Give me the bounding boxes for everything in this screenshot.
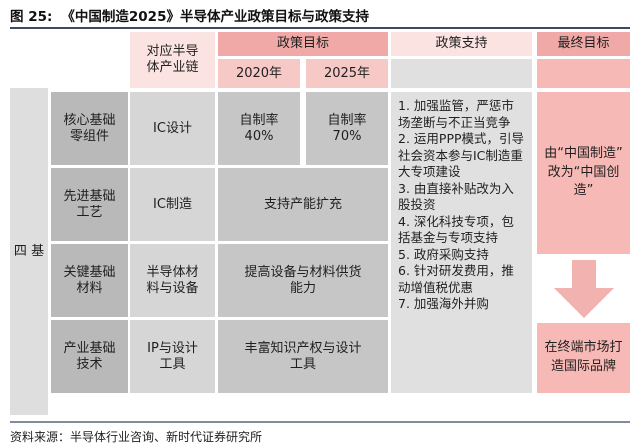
- base-cell-row3: 关键基础 材料: [51, 244, 128, 317]
- base-cell-row3-line2: 材料: [74, 281, 104, 297]
- figure-title: 《中国制造2025》半导体产业政策目标与政策支持: [61, 5, 369, 25]
- header-year-2025-label: 2025年: [322, 66, 372, 82]
- goal-2025-row1: 自制率 70%: [306, 92, 388, 165]
- title-divider: [10, 27, 630, 29]
- goal-2020-row1-line2: 40%: [243, 129, 276, 145]
- figure-page: 图 25: 《中国制造2025》半导体产业政策目标与政策支持 对应半导 体产业链…: [0, 0, 640, 448]
- four-bases-char-2: 基: [31, 244, 44, 259]
- goal-merged-row4: 丰富知识产权与设计 工具: [218, 320, 388, 393]
- down-arrow-shaft: [572, 260, 596, 290]
- header-final-goal-spacer: [537, 59, 630, 88]
- down-arrow-icon: [537, 258, 630, 320]
- base-cell-row2: 先进基础 工艺: [51, 168, 128, 241]
- four-bases-char-1: 四: [14, 244, 27, 259]
- header-policy-goal: 政策目标: [218, 32, 388, 56]
- chain-cell-row3-line2: 料与设备: [144, 281, 200, 297]
- chain-cell-row4-line2: 工具: [157, 357, 187, 373]
- header-industry-chain: 对应半导 体产业链: [130, 32, 215, 88]
- header-industry-chain-line2: 体产业链: [144, 60, 200, 76]
- goal-merged-row2: 支持产能扩充: [218, 168, 388, 241]
- goal-merged-row2-label: 支持产能扩充: [262, 197, 344, 213]
- header-year-2020: 2020年: [218, 59, 300, 88]
- final-goal-top-box: 由“中国制造”改为“中国创造”: [537, 92, 630, 254]
- goal-merged-row3-line1: 提高设备与材料供货: [242, 265, 363, 281]
- goal-2025-row1-line2: 70%: [331, 129, 364, 145]
- goal-merged-row4-line1: 丰富知识产权与设计: [242, 341, 363, 357]
- base-cell-row3-line1: 关键基础: [61, 265, 117, 281]
- goal-merged-row4-line2: 工具: [288, 357, 318, 373]
- source-note: 资料来源：半导体行业咨询、新时代证券研究所: [10, 427, 630, 445]
- goal-merged-row3: 提高设备与材料供货 能力: [218, 244, 388, 317]
- base-cell-row2-line2: 工艺: [74, 205, 104, 221]
- four-bases-text: 四 基: [14, 243, 44, 261]
- base-cell-row4: 产业基础 技术: [51, 320, 128, 393]
- header-policy-goal-label: 政策目标: [275, 36, 331, 52]
- header-final-goal: 最终目标: [537, 32, 630, 56]
- base-cell-row1: 核心基础 零组件: [51, 92, 128, 165]
- goal-merged-row3-line2: 能力: [288, 281, 318, 297]
- policy-support-item: 7. 加强海外并购: [398, 296, 526, 313]
- down-arrow-shape: [554, 260, 614, 318]
- policy-support-list: 1. 加强监管，严惩市场垄断与不正当竞争 2. 运用PPP模式，引导社会资本参与…: [391, 92, 532, 313]
- chain-cell-row3-line1: 半导体材: [144, 265, 200, 281]
- final-goal-bottom-box: 在终端市场打造国际品牌: [537, 323, 630, 393]
- base-cell-row4-line1: 产业基础: [61, 341, 117, 357]
- base-cell-row1-line1: 核心基础: [61, 113, 117, 129]
- goal-2020-row1-line1: 自制率: [237, 113, 280, 129]
- header-year-2020-label: 2020年: [234, 66, 284, 82]
- figure-title-bar: 图 25: 《中国制造2025》半导体产业政策目标与政策支持: [10, 4, 630, 26]
- four-bases-label: 四 基: [10, 88, 48, 415]
- header-final-goal-label: 最终目标: [555, 36, 611, 52]
- policy-support-item: 4. 深化科技专项，包括基金与专项支持: [398, 214, 526, 247]
- policy-support-item: 3. 由直接补贴改为入股投资: [398, 181, 526, 214]
- header-year-2025: 2025年: [306, 59, 388, 88]
- header-policy-support: 政策支持: [391, 32, 532, 56]
- chain-cell-row1-label: IC设计: [151, 121, 194, 137]
- policy-support-item: 2. 运用PPP模式，引导社会资本参与IC制造重大专项建设: [398, 131, 526, 181]
- base-cell-row1-line2: 零组件: [68, 129, 111, 145]
- final-goal-bottom-text: 在终端市场打造国际品牌: [537, 339, 630, 377]
- figure-number: 图 25:: [10, 5, 52, 25]
- chart-frame: 对应半导 体产业链 政策目标 政策支持 最终目标 2020年 2025年 四 基: [10, 30, 630, 415]
- final-goal-top-text: 由“中国制造”改为“中国创造”: [537, 145, 630, 202]
- policy-support-item: 5. 政府采购支持: [398, 247, 526, 264]
- chain-cell-row1: IC设计: [130, 92, 215, 165]
- base-cell-row4-line2: 技术: [74, 357, 104, 373]
- header-policy-support-label: 政策支持: [433, 36, 489, 52]
- header-policy-support-spacer: [391, 59, 532, 88]
- base-cell-row2-line1: 先进基础: [61, 189, 117, 205]
- goal-2020-row1: 自制率 40%: [218, 92, 300, 165]
- policy-support-panel: 1. 加强监管，严惩市场垄断与不正当竞争 2. 运用PPP模式，引导社会资本参与…: [391, 92, 532, 393]
- policy-support-item: 1. 加强监管，严惩市场垄断与不正当竞争: [398, 98, 526, 131]
- chain-cell-row3: 半导体材 料与设备: [130, 244, 215, 317]
- goal-2025-row1-line1: 自制率: [325, 113, 368, 129]
- chain-cell-row4-line1: IP与设计: [145, 341, 200, 357]
- header-industry-chain-line1: 对应半导: [144, 44, 200, 60]
- chain-cell-row2-label: IC制造: [151, 197, 194, 213]
- policy-support-item: 6. 针对研发费用，推动增值税优惠: [398, 263, 526, 296]
- chain-cell-row4: IP与设计 工具: [130, 320, 215, 393]
- chain-cell-row2: IC制造: [130, 168, 215, 241]
- down-arrow-head: [554, 288, 614, 318]
- source-divider: [10, 421, 630, 423]
